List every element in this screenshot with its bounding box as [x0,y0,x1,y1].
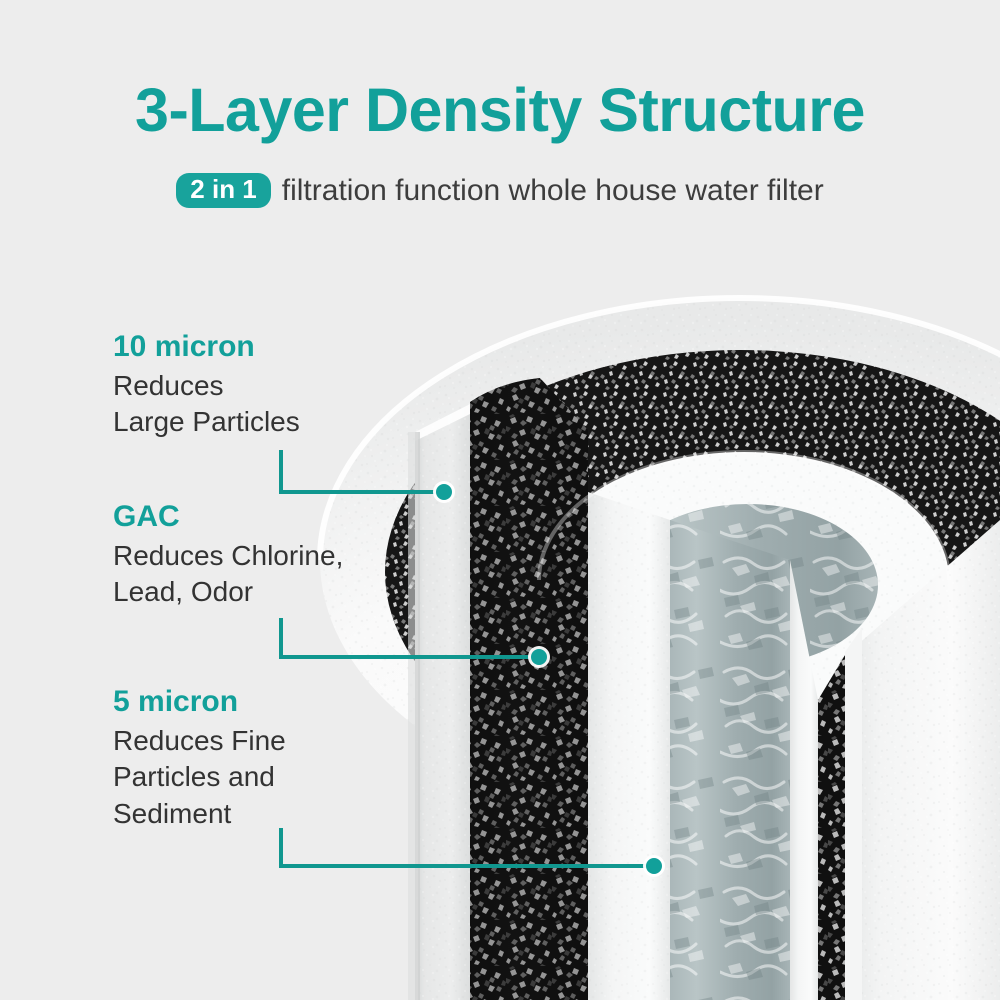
subtitle-row: 2 in 1 filtration function whole house w… [0,173,1000,208]
callout-body: Reduces Fine Particles and Sediment [113,723,443,834]
badge-2-in-1: 2 in 1 [176,173,270,208]
callout-line: Lead, Odor [113,574,443,611]
callout-heading: 5 micron [113,685,443,720]
page-title: 3-Layer Density Structure [0,80,1000,141]
callout-10-micron: 10 micron Reduces Large Particles [113,330,443,441]
callout-line: Reduces Fine [113,723,443,760]
callout-body: Reduces Chlorine, Lead, Odor [113,538,443,612]
callout-line: Large Particles [113,404,443,441]
callout-gac: GAC Reduces Chlorine, Lead, Odor [113,500,443,611]
callout-line: Sediment [113,796,443,833]
callout-body: Reduces Large Particles [113,368,443,442]
callout-line: Particles and [113,759,443,796]
callout-line: Reduces [113,368,443,405]
callout-5-micron: 5 micron Reduces Fine Particles and Sedi… [113,685,443,833]
infographic-canvas: 3-Layer Density Structure 2 in 1 filtrat… [0,0,1000,1000]
subtitle-text: filtration function whole house water fi… [282,174,824,207]
callout-heading: 10 micron [113,330,443,365]
callout-heading: GAC [113,500,443,535]
callout-line: Reduces Chlorine, [113,538,443,575]
